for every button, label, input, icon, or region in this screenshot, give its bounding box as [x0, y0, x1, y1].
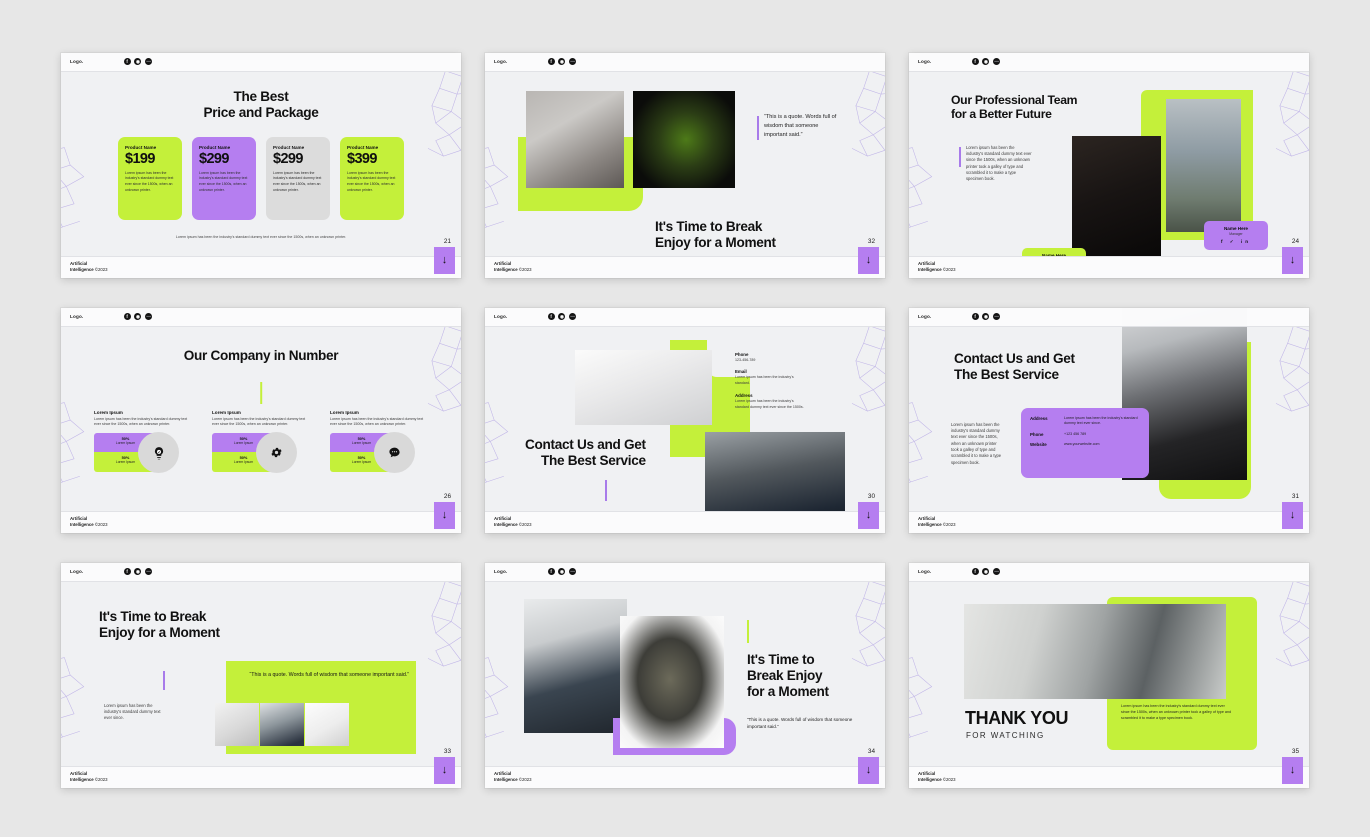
polygon-decoration-icon	[909, 655, 955, 759]
slide-header: Logo. f ◉ ➖	[61, 563, 461, 582]
facebook-icon[interactable]: f	[548, 58, 555, 65]
instagram-icon[interactable]: ◉	[558, 568, 565, 575]
vr-headset-on-mannequin-photo	[620, 616, 724, 748]
slide-footer: Artificial Intelligence ©2023	[485, 766, 885, 788]
lightbulb-check-icon	[138, 432, 179, 473]
slide-footer: Artificial Intelligence ©2023	[485, 511, 885, 533]
green-black-helmet-photo	[633, 91, 735, 188]
twitter-icon[interactable]: ➖	[569, 58, 576, 65]
stat-card[interactable]: Lorem Ipsum Lorem ipsum has been the ind…	[94, 410, 192, 473]
social-icons-group: f ◉ ➖	[972, 58, 1001, 65]
contact-value[interactable]: www.yourwebsite.com	[1064, 442, 1140, 448]
logo-text[interactable]: Logo.	[70, 569, 84, 574]
next-slide-button[interactable]: ↓	[1282, 757, 1303, 784]
logo-text[interactable]: Logo.	[918, 314, 932, 319]
page-number: 31	[1292, 493, 1299, 500]
member-role: Manager	[1208, 232, 1264, 236]
twitter-icon[interactable]: ➖	[993, 58, 1000, 65]
pricing-card[interactable]: Product Name $299 Lorem ipsum has been t…	[192, 137, 256, 220]
team-paragraph: Lorem ipsum has been the industry's stan…	[959, 145, 1032, 183]
instagram-icon[interactable]: ◉	[134, 568, 141, 575]
desk-with-laptops-photo	[524, 599, 627, 733]
contact-paragraph: Lorem ipsum has been the industry's stan…	[951, 422, 1003, 466]
contact-key: Address	[735, 393, 807, 398]
team-member-card[interactable]: Name Here Manager f ✓ in	[1204, 221, 1268, 250]
facebook-icon[interactable]: f	[548, 568, 555, 575]
slide-footer: Artificial Intelligence ©2023	[909, 256, 1309, 278]
page-title: It's Time to Break Enjoy for a Moment	[99, 609, 220, 642]
title-accent-bar	[747, 620, 749, 643]
contact-row: Website www.yourwebsite.com	[1030, 442, 1140, 448]
twitter-icon[interactable]: ➖	[145, 313, 152, 320]
next-slide-button[interactable]: ↓	[1282, 247, 1303, 274]
contact-info-list: Phone 123-456-789 Email Lorem ipsum has …	[735, 352, 807, 417]
next-slide-button[interactable]: ↓	[1282, 502, 1303, 529]
stat-chart: 50% Lorem Ipsum 50% Lorem Ipsum	[94, 433, 192, 472]
social-icons-group: f ◉ ➖	[548, 313, 577, 320]
camera-lens-machinery-photo	[964, 604, 1226, 699]
stat-card-list: Lorem Ipsum Lorem ipsum has been the ind…	[94, 410, 428, 473]
next-slide-button[interactable]: ↓	[858, 502, 879, 529]
product-description: Lorem ipsum has been the industry's stan…	[273, 171, 323, 195]
facebook-icon[interactable]: f	[124, 568, 131, 575]
product-name: Product Name	[273, 145, 323, 150]
man-with-red-beanie-photo	[1166, 99, 1241, 232]
instagram-icon[interactable]: ◉	[982, 568, 989, 575]
stat-chart: 50% Lorem Ipsum 50% Lorem Ipsum	[330, 433, 428, 472]
facebook-icon[interactable]: f	[972, 58, 979, 65]
social-icons-group: f ◉ ➖	[972, 313, 1001, 320]
page-number: 26	[444, 493, 451, 500]
slide-footer: Artificial Intelligence ©2023	[61, 511, 461, 533]
next-slide-button[interactable]: ↓	[434, 502, 455, 529]
member-name: Name Here	[1208, 226, 1264, 231]
page-title: It's Time to Break Enjoy for a Moment	[747, 652, 867, 701]
page-number: 33	[444, 748, 451, 755]
product-description: Lorem ipsum has been the industry's stan…	[347, 171, 397, 195]
slide-contact-b[interactable]: Logo. f ◉ ➖ Contact Us and Get The Best …	[909, 308, 1309, 533]
slide-footer: Artificial Intelligence ©2023	[61, 256, 461, 278]
page-title: Contact Us and Get The Best Service	[525, 437, 646, 470]
polygon-decoration-icon	[813, 322, 885, 414]
slide-header: Logo. f ◉ ➖	[485, 53, 885, 72]
paragraph-accent-bar	[163, 671, 165, 690]
slide-team[interactable]: Logo. f ◉ ➖ Our Professional Team for a …	[909, 53, 1309, 278]
page-title: The Best Price and Package	[61, 89, 461, 122]
slide-header: Logo. f ◉ ➖	[909, 563, 1309, 582]
footer-brand: Artificial Intelligence ©2023	[494, 516, 532, 528]
twitter-icon[interactable]: ➖	[145, 568, 152, 575]
contact-key: Website	[1030, 442, 1064, 448]
quote-text: “This is a quote. Words full of wisdom t…	[764, 113, 839, 140]
contact-value: 123-456-789	[735, 358, 807, 364]
social-icons-group: f ◉ ➖	[972, 568, 1001, 575]
instagram-icon[interactable]: ◉	[134, 313, 141, 320]
pricing-card-list: Product Name $199 Lorem ipsum has been t…	[61, 137, 461, 220]
twitter-icon[interactable]: ➖	[993, 313, 1000, 320]
twitter-icon[interactable]: ➖	[569, 313, 576, 320]
paragraph-accent-bar	[959, 147, 961, 167]
polygon-decoration-icon	[909, 145, 955, 249]
page-number: 34	[868, 748, 875, 755]
stat-heading: Lorem Ipsum	[330, 410, 428, 415]
stat-heading: Lorem Ipsum	[212, 410, 310, 415]
social-icons-group: f ◉ ➖	[124, 58, 153, 65]
slide-break-quote-2[interactable]: Logo. f ◉ ➖ It's Time to Break Enjoy for…	[61, 563, 461, 788]
page-number: 21	[444, 238, 451, 245]
logo-text[interactable]: Logo.	[494, 314, 508, 319]
logo-text[interactable]: Logo.	[494, 59, 508, 64]
polygon-decoration-icon	[61, 655, 107, 759]
contact-row: Phone +123 456 789	[1030, 432, 1140, 438]
contact-details-card[interactable]: Address Lorem ipsum has been the industr…	[1021, 408, 1149, 478]
facebook-icon[interactable]: f	[972, 568, 979, 575]
stat-heading: Lorem Ipsum	[94, 410, 192, 415]
facebook-icon[interactable]: f	[972, 313, 979, 320]
slide-header: Logo. f ◉ ➖	[485, 308, 885, 327]
product-name: Product Name	[199, 145, 249, 150]
slide-paragraph: Lorem ipsum has been the industry's stan…	[104, 703, 165, 722]
footer-brand: Artificial Intelligence ©2023	[494, 261, 532, 273]
page-title: Our Company in Number	[61, 348, 461, 364]
footer-brand: Artificial Intelligence ©2023	[70, 771, 108, 783]
desk-monitor-photo	[260, 703, 304, 746]
stat-description: Lorem ipsum has been the industry's stan…	[212, 417, 310, 429]
contact-key: Phone	[1030, 432, 1064, 438]
slide-header: Logo. f ◉ ➖	[485, 563, 885, 582]
next-slide-button[interactable]: ↓	[858, 247, 879, 274]
twitter-icon[interactable]: ➖	[993, 568, 1000, 575]
footer-brand: Artificial Intelligence ©2023	[918, 771, 956, 783]
instagram-icon[interactable]: ◉	[982, 313, 989, 320]
polygon-decoration-icon	[909, 400, 955, 504]
instagram-icon[interactable]: ◉	[558, 58, 565, 65]
man-in-suit-photo	[1072, 136, 1161, 268]
page-title: Our Professional Team for a Better Futur…	[951, 93, 1077, 122]
page-number: 24	[1292, 238, 1299, 245]
pricing-card[interactable]: Product Name $299 Lorem ipsum has been t…	[266, 137, 330, 220]
product-price: $299	[273, 151, 323, 167]
title-accent-bar	[605, 480, 607, 501]
slide-deck-grid: Logo. f ◉ ➖ The Best Price and Package P…	[0, 0, 1370, 837]
slide-footer: Artificial Intelligence ©2023	[485, 256, 885, 278]
stat-description: Lorem ipsum has been the industry's stan…	[330, 417, 428, 429]
white-vr-headset-photo	[305, 703, 349, 746]
page-number: 35	[1292, 748, 1299, 755]
product-name: Product Name	[347, 145, 397, 150]
contact-key: Phone	[735, 352, 807, 357]
next-slide-button[interactable]: ↓	[858, 757, 879, 784]
pricing-card[interactable]: Product Name $399 Lorem ipsum has been t…	[340, 137, 404, 220]
facebook-icon[interactable]: f	[124, 313, 131, 320]
slide-header: Logo. f ◉ ➖	[909, 53, 1309, 72]
slide-company-numbers[interactable]: Logo. f ◉ ➖ Our Company in Number Lorem …	[61, 308, 461, 533]
footer-brand: Artificial Intelligence ©2023	[70, 516, 108, 528]
slide-footer: Artificial Intelligence ©2023	[61, 766, 461, 788]
contact-value: Lorem ipsum has been the industry's stan…	[735, 399, 807, 411]
quote-text: “This is a quote. Words full of wisdom t…	[237, 671, 409, 679]
laptop-on-desk-photo	[526, 91, 624, 188]
slide-footer: Artificial Intelligence ©2023	[909, 511, 1309, 533]
page-number: 30	[868, 493, 875, 500]
social-icons-group: f ◉ ➖	[124, 568, 153, 575]
next-slide-button[interactable]: ↓	[434, 247, 455, 274]
stat-card[interactable]: Lorem Ipsum Lorem ipsum has been the ind…	[212, 410, 310, 473]
slide-contact-a[interactable]: Logo. f ◉ ➖ Phone 123-456-789 Email Lore…	[485, 308, 885, 533]
footer-brand: Artificial Intelligence ©2023	[494, 771, 532, 783]
slide-thank-you[interactable]: Logo. f ◉ ➖ THANK YOU FOR WATCHING Lorem…	[909, 563, 1309, 788]
social-icons-group: f ◉ ➖	[548, 58, 577, 65]
quote-block: “This is a quote. Words full of wisdom t…	[757, 113, 839, 140]
title-accent-bar	[260, 382, 262, 404]
product-price: $299	[199, 151, 249, 167]
logo-text[interactable]: Logo.	[70, 314, 84, 319]
product-description: Lorem ipsum has been the industry's stan…	[125, 171, 175, 195]
polygon-decoration-icon	[389, 577, 461, 669]
thank-you-heading: THANK YOU	[965, 708, 1068, 729]
product-price: $199	[125, 151, 175, 167]
product-description: Lorem ipsum has been the industry's stan…	[199, 171, 249, 195]
stat-description: Lorem ipsum has been the industry's stan…	[94, 417, 192, 429]
slide-break-quote-3[interactable]: Logo. f ◉ ➖ It's Time to Break Enjoy for…	[485, 563, 885, 788]
stat-chart: 50% Lorem Ipsum 50% Lorem Ipsum	[212, 433, 310, 472]
logo-text[interactable]: Logo.	[918, 59, 932, 64]
polygon-decoration-icon	[389, 322, 461, 414]
quote-text: “This is a quote. Words full of wisdom t…	[747, 716, 865, 731]
contact-value: +123 456 789	[1064, 432, 1140, 438]
pricing-card[interactable]: Product Name $199 Lorem ipsum has been t…	[118, 137, 182, 220]
logo-text[interactable]: Logo.	[918, 569, 932, 574]
slide-break-quote[interactable]: Logo. f ◉ ➖ “This is a quote. Words full…	[485, 53, 885, 278]
product-name: Product Name	[125, 145, 175, 150]
social-icons-group: f ◉ ➖	[124, 313, 153, 320]
keyboard-photo	[215, 703, 259, 746]
product-price: $399	[347, 151, 397, 167]
footer-brand: Artificial Intelligence ©2023	[918, 516, 956, 528]
footer-brand: Artificial Intelligence ©2023	[70, 261, 108, 273]
slide-pricing[interactable]: Logo. f ◉ ➖ The Best Price and Package P…	[61, 53, 461, 278]
thank-you-subheading: FOR WATCHING	[966, 731, 1045, 740]
pricing-footnote: Lorem ipsum has been the industry's stan…	[61, 235, 461, 241]
thank-you-paragraph: Lorem ipsum has been the industry's stan…	[1121, 703, 1233, 722]
contact-key: Email	[735, 369, 807, 374]
stat-card[interactable]: Lorem Ipsum Lorem ipsum has been the ind…	[330, 410, 428, 473]
contact-value: Lorem ipsum has been the industry's stan…	[735, 375, 807, 387]
instagram-icon[interactable]: ◉	[558, 313, 565, 320]
page-title: Contact Us and Get The Best Service	[954, 351, 1075, 384]
photo-strip	[215, 703, 350, 746]
contact-key: Address	[1030, 416, 1064, 427]
quote-accent-bar	[757, 116, 759, 140]
next-slide-button[interactable]: ↓	[434, 757, 455, 784]
page-number: 32	[868, 238, 875, 245]
slide-footer: Artificial Intelligence ©2023	[909, 766, 1309, 788]
instagram-icon[interactable]: ◉	[134, 58, 141, 65]
white-vr-headset-photo	[575, 350, 712, 425]
slide-header: Logo. f ◉ ➖	[61, 53, 461, 72]
contact-value: Lorem ipsum has been the industry's stan…	[1064, 416, 1140, 427]
slide-header: Logo. f ◉ ➖	[909, 308, 1309, 327]
instagram-icon[interactable]: ◉	[982, 58, 989, 65]
footer-brand: Artificial Intelligence ©2023	[918, 261, 956, 273]
member-social-icons[interactable]: f ✓ in	[1208, 239, 1264, 245]
logo-text[interactable]: Logo.	[494, 569, 508, 574]
page-title: It's Time to Break Enjoy for a Moment	[655, 219, 776, 252]
facebook-icon[interactable]: f	[548, 313, 555, 320]
chat-bubble-icon	[374, 432, 415, 473]
logo-text[interactable]: Logo.	[70, 59, 84, 64]
social-icons-group: f ◉ ➖	[548, 568, 577, 575]
twitter-icon[interactable]: ➖	[145, 58, 152, 65]
twitter-icon[interactable]: ➖	[569, 568, 576, 575]
slide-header: Logo. f ◉ ➖	[61, 308, 461, 327]
facebook-icon[interactable]: f	[124, 58, 131, 65]
gear-icon	[256, 432, 297, 473]
contact-row: Address Lorem ipsum has been the industr…	[1030, 416, 1140, 427]
